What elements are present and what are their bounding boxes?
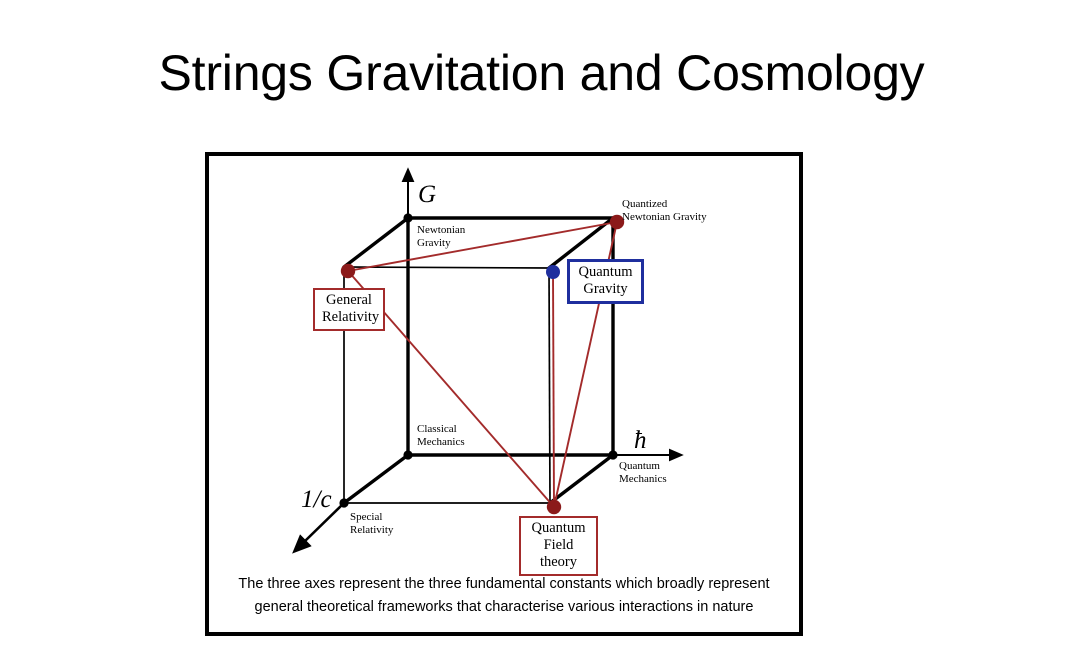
vertex-label-special-relativity: Special Relativity (350, 511, 393, 536)
vertex-dot-quantum-mechanics (608, 450, 617, 459)
vertex-label-quantum-mechanics: Quantum Mechanics (619, 460, 667, 485)
vertex-label-general-relativity: General Relativity (313, 288, 385, 331)
vertex-dot-quantum-gravity (546, 265, 560, 279)
figure-caption-line-2: general theoretical frameworks that char… (217, 596, 791, 618)
vertex-dot-special-relativity (339, 498, 348, 507)
page-title: Strings Gravitation and Cosmology (0, 46, 1083, 101)
vertex-dot-classical-mechanics (403, 450, 412, 459)
axis-label-G: G (418, 182, 436, 207)
vertex-dot-general-relativity (341, 264, 355, 278)
axis-lines (304, 180, 671, 542)
vertex-label-quantum-field-theory: Quantum Field theory (519, 516, 598, 576)
vertex-label-quantum-gravity: Quantum Gravity (567, 259, 644, 304)
vertex-dot-newtonian-gravity (403, 213, 412, 222)
figure-frame: G ħ 1/c Newtonian Gravity Quantized Newt… (205, 152, 803, 636)
vertex-label-newtonian-gravity: Newtonian Gravity (417, 224, 465, 249)
link-qg-qft (553, 272, 554, 507)
cube-diagram (209, 156, 799, 632)
vertex-label-classical-mechanics: Classical Mechanics (417, 423, 465, 448)
vertex-dot-quantum-field-theory (547, 500, 561, 514)
figure-caption-line-1: The three axes represent the three funda… (217, 573, 791, 595)
vertex-label-quantized-newtonian-gravity: Quantized Newtonian Gravity (622, 198, 707, 223)
axis-label-hbar: ħ (634, 428, 647, 453)
axis-label-inv-c: 1/c (301, 487, 332, 512)
slide-canvas: Strings Gravitation and Cosmology (0, 0, 1083, 664)
